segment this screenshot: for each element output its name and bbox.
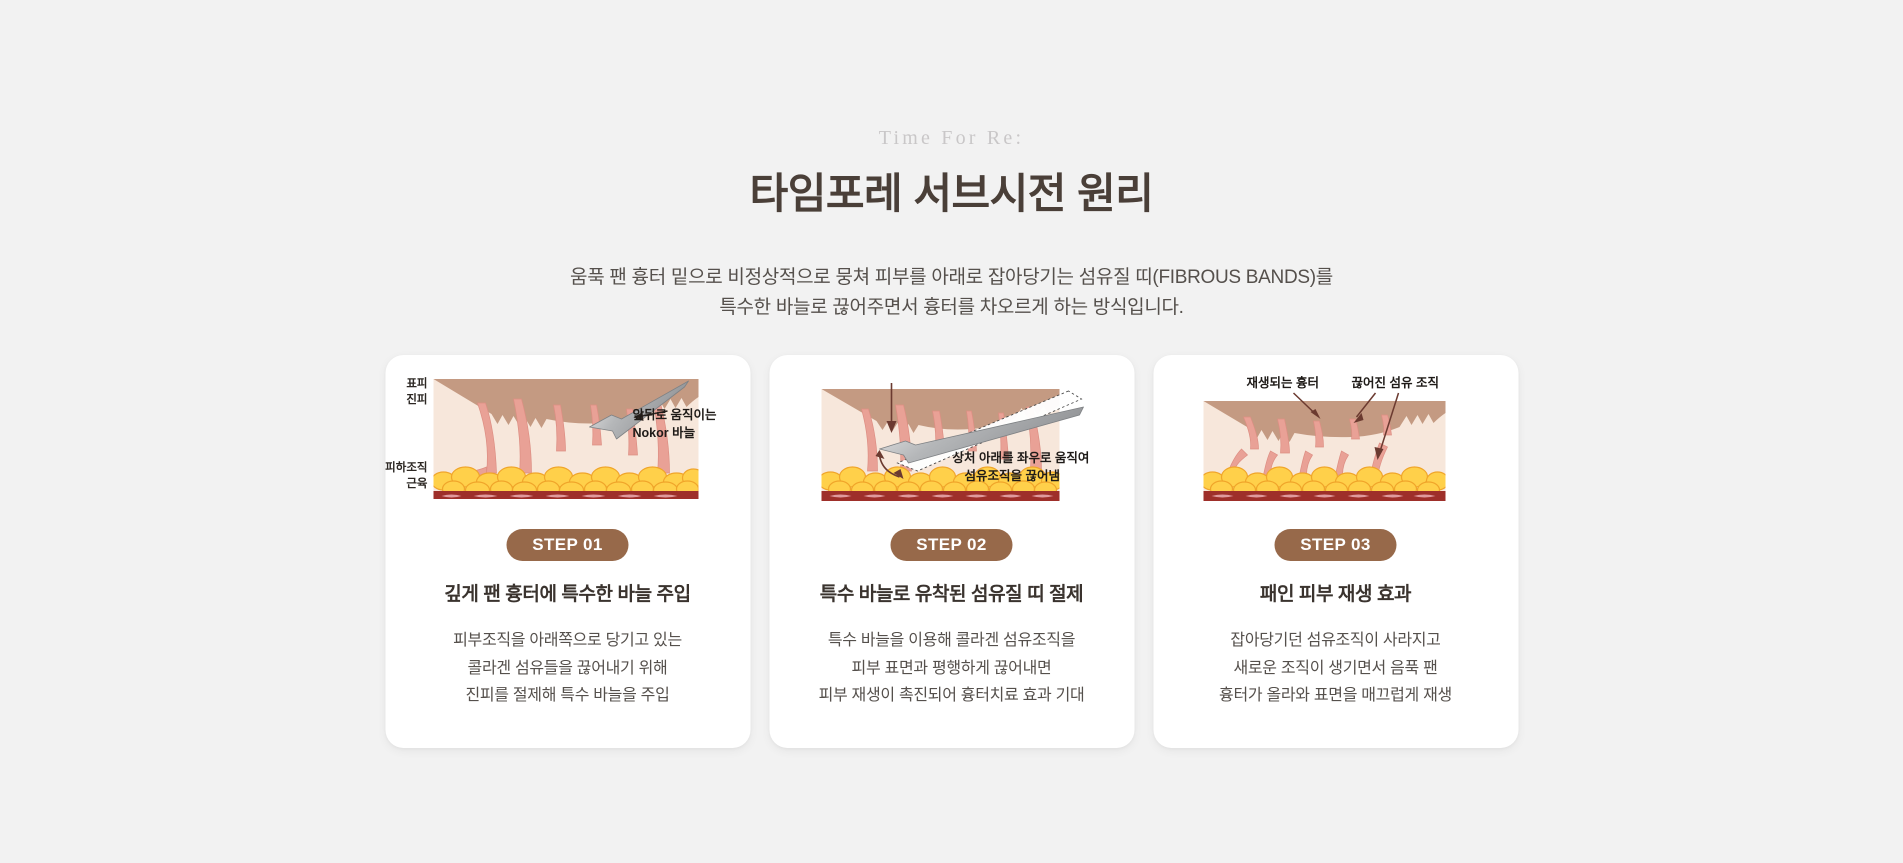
page-title: 타임포레 서브시전 원리 [0,168,1903,221]
step-body: 잡아당기던 섬유조직이 사라지고 새로운 조직이 생기면서 음푹 팬 흉터가 올… [1219,627,1452,710]
step-title: 특수 바늘로 유착된 섬유질 띠 절제 [820,585,1084,604]
step-body: 피부조직을 아래쪽으로 당기고 있는 콜라겐 섬유들을 끊어내기 위해 진피를 … [453,627,682,710]
page-header: Time For Re: 타임포레 서브시전 원리 움푹 팬 흉터 밑으로 비정… [0,0,1903,324]
callout-line-1: 앞뒤로 움직이는 [632,407,716,422]
step-body-line-3: 피부 재생이 촉진되어 흉터치료 효과 기대 [819,682,1085,710]
step-title: 깊게 팬 흉터에 특수한 바늘 주입 [444,585,690,604]
step-card-03[interactable]: 재생되는 흉터 끊어진 섬유 조직 [1153,355,1518,748]
skin-diagram-step-03: 재생되는 흉터 끊어진 섬유 조직 [1153,355,1518,523]
callout-regenerating-scar: 재생되는 흉터 [1246,375,1318,390]
label-subcutaneous: 피하조직 [385,460,427,474]
description-line-2: 특수한 바늘로 끊어주면서 흉터를 차오르게 하는 방식입니다. [0,293,1903,324]
callout-line-2: 섬유조직을 끊어냄 [964,468,1059,483]
step-body-line-1: 잡아당기던 섬유조직이 사라지고 [1219,627,1452,655]
step-body: 특수 바늘을 이용해 콜라겐 섬유조직을 피부 표면과 평행하게 끊어내면 피부… [819,627,1085,710]
skin-diagram-step-01: 표피 진피 피하조직 근육 앞뒤로 움직이는 Nokor 바늘 [385,355,750,523]
step-badge: STEP 01 [506,529,629,561]
label-dermis: 진피 [406,392,427,406]
step-body-line-2: 새로운 조직이 생기면서 음푹 팬 [1219,655,1452,683]
eyebrow-text: Time For Re: [0,128,1903,148]
step-body-line-3: 진피를 절제해 특수 바늘을 주입 [453,682,682,710]
description-line-1: 움푹 팬 흉터 밑으로 비정상적으로 뭉쳐 피부를 아래로 잡아당기는 섬유질 … [0,263,1903,294]
label-muscle: 근육 [406,477,428,490]
callout-severed-fiber: 끊어진 섬유 조직 [1351,375,1438,390]
step-badge: STEP 03 [1274,529,1397,561]
step-body-line-1: 특수 바늘을 이용해 콜라겐 섬유조직을 [819,627,1085,655]
step-body-line-2: 콜라겐 섬유들을 끊어내기 위해 [453,655,682,683]
callout-line-2: Nokor 바늘 [632,425,695,440]
callout-line-1: 상처 아래를 좌우로 움직여 [952,450,1089,465]
label-epidermis: 표피 [406,376,427,390]
step-card-02[interactable]: 상처 아래를 좌우로 움직여 섬유조직을 끊어냄 STEP 02 특수 바늘로 … [769,355,1134,748]
step-title: 패인 피부 재생 효과 [1260,585,1411,604]
step-body-line-1: 피부조직을 아래쪽으로 당기고 있는 [453,627,682,655]
step-body-line-3: 흉터가 올라와 표면을 매끄럽게 재생 [1219,682,1452,710]
page-root: Time For Re: 타임포레 서브시전 원리 움푹 팬 흉터 밑으로 비정… [0,0,1903,863]
step-card-list: 표피 진피 피하조직 근육 앞뒤로 움직이는 Nokor 바늘 STEP 01 … [385,355,1518,748]
step-badge: STEP 02 [890,529,1013,561]
skin-diagram-step-02: 상처 아래를 좌우로 움직여 섬유조직을 끊어냄 [769,355,1134,523]
step-card-01[interactable]: 표피 진피 피하조직 근육 앞뒤로 움직이는 Nokor 바늘 STEP 01 … [385,355,750,748]
page-description: 움푹 팬 흉터 밑으로 비정상적으로 뭉쳐 피부를 아래로 잡아당기는 섬유질 … [0,263,1903,325]
step-body-line-2: 피부 표면과 평행하게 끊어내면 [819,655,1085,683]
